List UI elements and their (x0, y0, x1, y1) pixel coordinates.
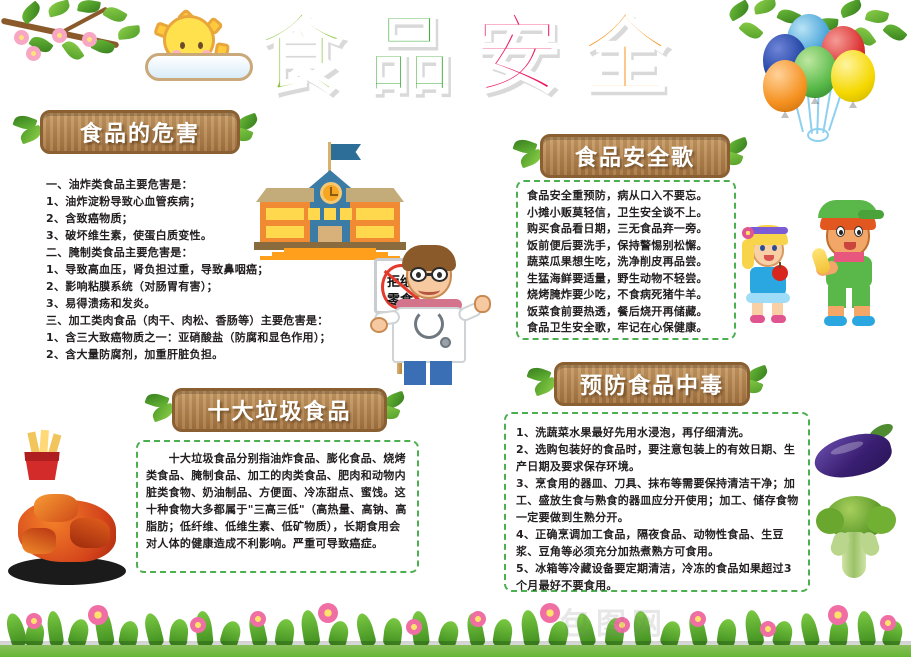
heading-text-safety-song: 食品安全歌 (575, 140, 695, 172)
girl-holding-apple (740, 205, 796, 325)
section-heading-prevent-poisoning: 预防食品中毒 (554, 362, 750, 406)
song-line-4: 饭前便后要洗手，保持警惕别松懈。 (527, 238, 732, 255)
prevent-item-1: 1、洗蔬菜水果最好先用水浸泡，再仔细清洗。 (516, 424, 802, 441)
heading-text-prevent-poisoning: 预防食品中毒 (580, 368, 724, 400)
title-char-4: 全 (582, 5, 668, 105)
page-title: 食 品 安 全 (258, 5, 678, 110)
school-building (250, 142, 410, 260)
junk-food-text-block: 十大垃圾食品分别指油炸食品、膨化食品、烧烤类食品、腌制食品、加工的肉类食品、肥肉… (146, 450, 410, 552)
prevent-item-5: 5、冰箱等冷藏设备要定期清洁，冷冻的食品如果超过3个月最好不要食用。 (516, 560, 802, 594)
junk-food-paragraph: 十大垃圾食品分别指油炸食品、膨化食品、烧烤类食品、腌制食品、加工的肉类食品、肥肉… (146, 450, 410, 552)
prevent-poisoning-list: 1、洗蔬菜水果最好先用水浸泡，再仔细清洗。 2、选购包装好的食品时，要注意包装上… (516, 424, 802, 594)
balloon-yellow (831, 50, 875, 102)
title-char-1: 食 (258, 5, 344, 105)
title-char-3: 安 (474, 5, 560, 105)
safety-song-text-block: 食品安全重预防，病从口入不要忘。 小摊小贩莫轻信，卫生安全谈不上。 购买食品看日… (527, 188, 732, 337)
balloons-cluster (745, 8, 895, 148)
song-line-6: 生猛海鲜要适量，野生动物不轻尝。 (527, 271, 732, 288)
prevent-item-3: 3、烹食用的器皿、刀具、抹布等需要保持清洁干净；加工、盛放生食与熟食的器皿应分开… (516, 475, 802, 526)
song-line-8: 饭菜食前要热透，餐后烧开再储藏。 (527, 304, 732, 321)
doctor-character (370, 245, 490, 385)
heading-text-junk-food: 十大垃圾食品 (207, 394, 351, 426)
song-line-7: 烧烤腌炸要少吃，不食病死猪牛羊。 (527, 287, 732, 304)
song-line-5: 蔬菜瓜果想生吃，洗净削皮再品尝。 (527, 254, 732, 271)
title-char-2: 品 (366, 5, 452, 105)
eggplant (812, 424, 898, 480)
song-line-1: 食品安全重预防，病从口入不要忘。 (527, 188, 732, 205)
boy-holding-banana (812, 192, 886, 332)
song-line-3: 购买食品看日期，三无食品弃一旁。 (527, 221, 732, 238)
song-line-2: 小摊小贩莫轻信，卫生安全谈不上。 (527, 205, 732, 222)
french-fries (14, 432, 70, 480)
prevent-item-4: 4、正确烹调加工食品，隔夜食品、动物性食品、生豆浆、豆角等必须充分加热煮熟方可食… (516, 526, 802, 560)
spicy-chips-plate (8, 490, 126, 585)
poster-canvas: 食 品 安 全 (0, 0, 911, 657)
section-heading-hazards: 食品的危害 (40, 110, 240, 154)
section-heading-safety-song: 食品安全歌 (540, 134, 730, 178)
section-heading-junk-food: 十大垃圾食品 (172, 388, 387, 432)
broccoli (812, 492, 898, 588)
grass-flower-border (0, 599, 911, 657)
heading-text-hazards: 食品的危害 (80, 116, 200, 148)
prevent-item-2: 2、选购包装好的食品时，要注意包装上的有效日期、生产日期及要求保存环境。 (516, 441, 802, 475)
song-line-9: 食品卫生安全歌，牢记在心保健康。 (527, 320, 732, 337)
smiling-sun (145, 15, 255, 90)
watermark: 包图网 (560, 599, 668, 643)
balloon-orange (763, 60, 807, 112)
